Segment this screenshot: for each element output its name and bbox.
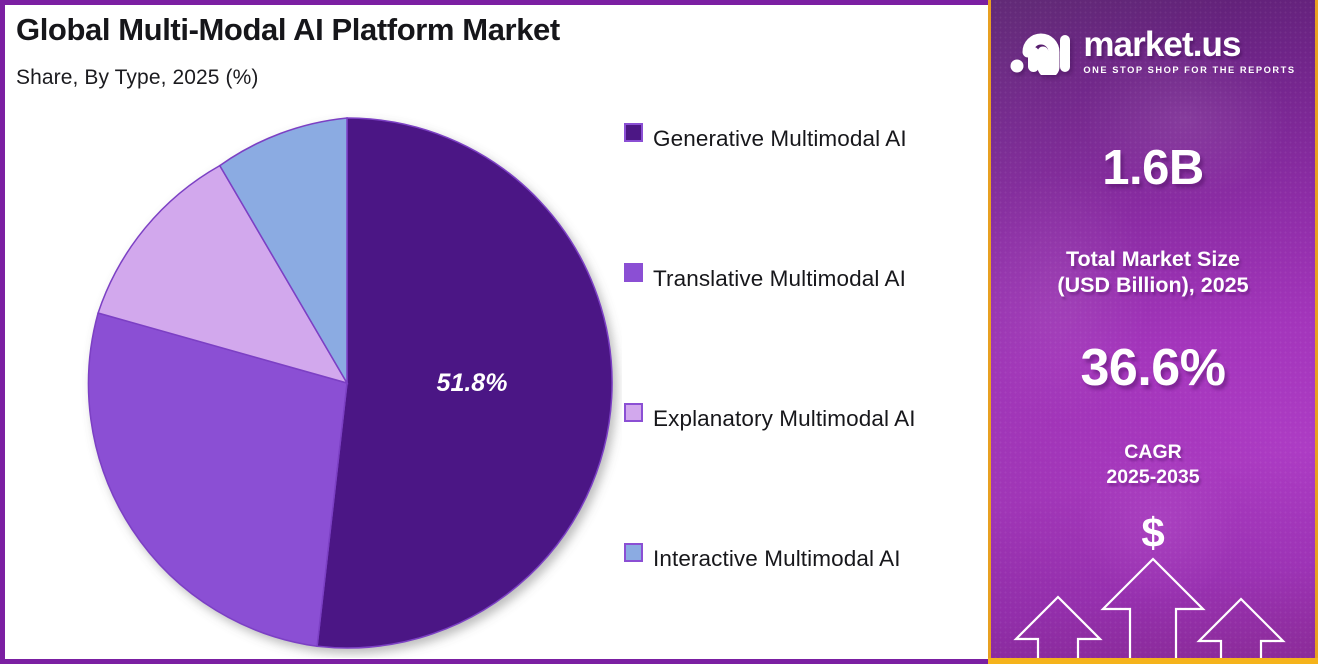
page-title: Global Multi-Modal AI Platform Market	[16, 12, 560, 48]
arrow-up-right-icon	[1199, 599, 1283, 664]
brand-logo[interactable]: market.us ONE STOP SHOP FOR THE REPORTS	[988, 28, 1318, 75]
legend-item-translative[interactable]: Translative Multimodal AI	[624, 260, 974, 298]
logo-text: market.us ONE STOP SHOP FOR THE REPORTS	[1083, 28, 1295, 75]
cagr-value: 36.6%	[988, 338, 1318, 398]
cagr-caption-line2: 2025-2035	[988, 465, 1318, 490]
arrow-up-center-icon	[1103, 559, 1203, 664]
legend-item-label: Translative Multimodal AI	[653, 260, 906, 298]
growth-arrows-icon: $	[988, 499, 1318, 664]
legend-swatch-icon	[624, 123, 643, 142]
legend-item-generative[interactable]: Generative Multimodal AI	[624, 120, 974, 158]
dollar-sign-icon: $	[1141, 509, 1164, 556]
legend-swatch-icon	[624, 263, 643, 282]
market-size-caption-line2: (USD Billion), 2025	[988, 272, 1318, 298]
cagr-caption-line1: CAGR	[988, 440, 1318, 465]
pie-chart-svg: 51.8%	[72, 108, 622, 658]
panel-content: market.us ONE STOP SHOP FOR THE REPORTS …	[988, 0, 1318, 664]
logo-tagline: ONE STOP SHOP FOR THE REPORTS	[1083, 65, 1295, 75]
panel-bottom-bar	[988, 658, 1318, 664]
market-size-caption-line1: Total Market Size	[988, 246, 1318, 272]
market-size-caption: Total Market Size (USD Billion), 2025	[988, 246, 1318, 298]
pie-slice-value-label: 51.8%	[437, 369, 508, 397]
legend-item-explanatory[interactable]: Explanatory Multimodal AI	[624, 400, 974, 438]
arrow-up-left-icon	[1016, 597, 1100, 664]
page-subtitle: Share, By Type, 2025 (%)	[16, 66, 258, 90]
market-size-value: 1.6B	[988, 140, 1318, 196]
market-us-logo-icon	[1010, 29, 1072, 75]
pie-chart: 51.8%	[72, 108, 622, 658]
legend-swatch-icon	[624, 543, 643, 562]
panel-left-edge	[988, 0, 991, 664]
legend-item-label: Explanatory Multimodal AI	[653, 400, 916, 438]
logo-wordmark: market.us	[1083, 28, 1295, 62]
stats-panel: market.us ONE STOP SHOP FOR THE REPORTS …	[988, 0, 1318, 664]
legend-item-interactive[interactable]: Interactive Multimodal AI	[624, 540, 974, 578]
legend-item-label: Interactive Multimodal AI	[653, 540, 901, 578]
legend-item-label: Generative Multimodal AI	[653, 120, 907, 158]
legend-swatch-icon	[624, 403, 643, 422]
infographic-root: Global Multi-Modal AI Platform Market Sh…	[0, 0, 1318, 664]
cagr-caption: CAGR 2025-2035	[988, 440, 1318, 490]
